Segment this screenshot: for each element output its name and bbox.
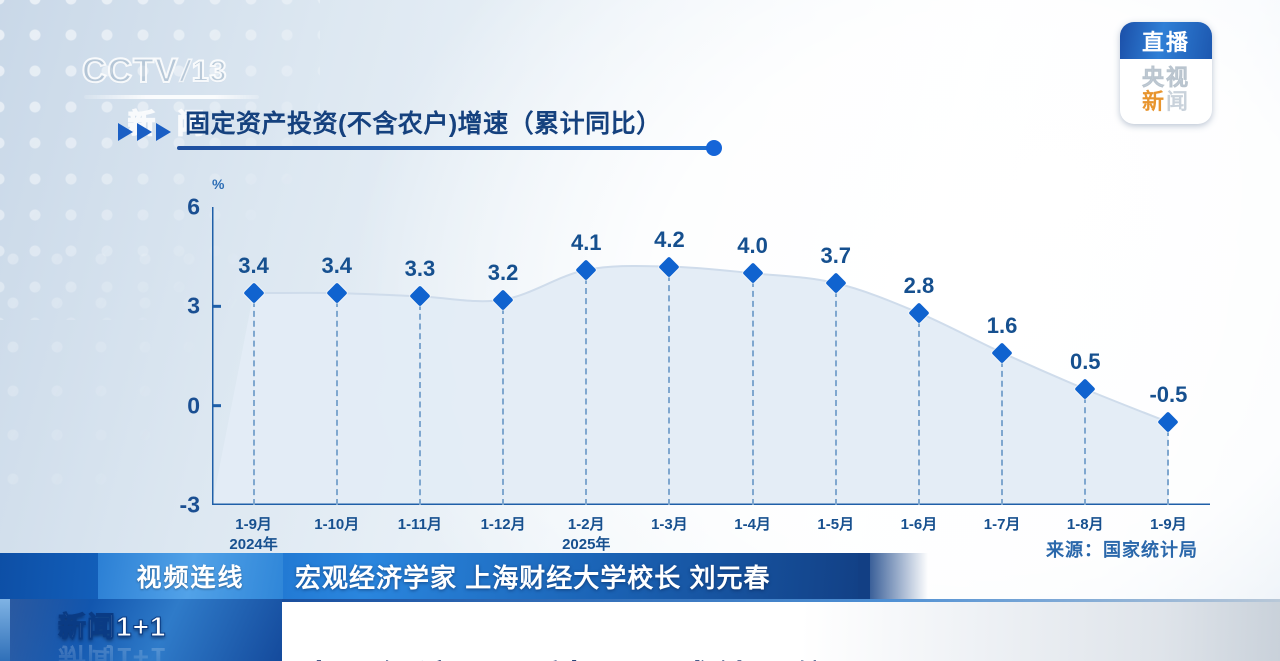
program-logo-reflection: 新闻1+1 [58, 639, 167, 661]
data-point-value-label: 4.0 [737, 233, 768, 259]
headline-row: 新闻1+1 新闻1+1 中国经济 “三季报” ，成绩与信号！ [0, 599, 1280, 661]
chart-title: 固定资产投资(不含农户)增速（累计同比） [177, 104, 717, 146]
live-badge-news-rest: 闻 [1166, 89, 1190, 114]
data-point-marker [1158, 412, 1179, 433]
data-point-dropline [253, 301, 255, 505]
data-point-dropline [1001, 361, 1003, 505]
data-point-marker [492, 289, 513, 310]
live-badge-news-text: 新闻 [1142, 90, 1190, 113]
chart-area: % 3.41-9月2024年3.41-10月3.31-11月3.21-12月4.… [150, 185, 1210, 505]
data-point-dropline [585, 278, 587, 505]
cctv-watermark-bar [84, 95, 259, 99]
data-point-value-label: 3.4 [238, 253, 269, 279]
data-point-marker [1075, 379, 1096, 400]
data-point-value-label: 3.4 [321, 253, 352, 279]
data-point-value-label: 3.2 [488, 260, 519, 286]
x-axis-tick-label: 1-4月 [734, 515, 771, 535]
y-axis-tick-label: 3 [160, 293, 200, 320]
chart-title-wrap: 固定资产投资(不含农户)增速（累计同比） [177, 104, 717, 150]
broadcast-screen: CCTV / 13 新闻 直播 央视 新闻 固定资产投资(不含农户)增速（累计同… [0, 0, 1280, 661]
data-point-marker [576, 259, 597, 280]
y-axis-tick-label: 6 [160, 194, 200, 221]
live-label: 直播 [1120, 22, 1212, 59]
x-axis-tick-label: 1-2月2025年 [562, 515, 610, 556]
x-axis-tick-label: 1-3月 [651, 515, 688, 535]
lower-third: 视频连线 宏观经济学家 上海财经大学校长 刘元春 新闻1+1 新闻1+1 中国经… [0, 553, 1280, 661]
data-point-dropline [336, 301, 338, 505]
chart-title-underline [177, 146, 717, 150]
headline-text: 中国经济 “三季报” ，成绩与信号！ [300, 645, 909, 661]
data-point-marker [825, 273, 846, 294]
data-point-value-label: 4.1 [571, 230, 602, 256]
cctv-watermark-slash: / [177, 55, 194, 89]
data-point-value-label: 3.3 [405, 256, 436, 282]
cctv-watermark-text: CCTV [82, 52, 179, 91]
x-axis-month-label: 1-3月 [651, 516, 688, 533]
arrow-triangles-icon [118, 123, 171, 141]
x-axis-month-label: 1-10月 [314, 516, 359, 533]
data-point-marker [326, 282, 347, 303]
program-logo-panel: 新闻1+1 新闻1+1 [0, 599, 282, 661]
live-badge-cctv-text: 央视 [1142, 67, 1190, 90]
x-axis-tick-label: 1-5月 [817, 515, 854, 535]
x-axis-month-label: 1-4月 [734, 516, 771, 533]
y-axis-tick-label: 0 [160, 392, 200, 419]
data-point-dropline [918, 321, 920, 505]
x-axis-month-label: 1-8月 [1067, 516, 1104, 533]
guest-name-title: 宏观经济学家 上海财经大学校长 刘元春 [295, 553, 770, 599]
x-axis-month-label: 1-2月 [568, 516, 605, 533]
y-axis-tick-label: -3 [160, 492, 200, 519]
live-badge-news-accent: 新 [1142, 89, 1166, 114]
data-point-value-label: 4.2 [654, 227, 685, 253]
data-point-dropline [668, 275, 670, 505]
guest-row: 视频连线 宏观经济学家 上海财经大学校长 刘元春 [0, 553, 1280, 599]
data-point-marker [659, 256, 680, 277]
x-axis-month-label: 1-9月 [1150, 516, 1187, 533]
x-axis-tick-label: 1-6月 [901, 515, 938, 535]
data-point-dropline [752, 281, 754, 505]
data-point-marker [742, 263, 763, 284]
connection-tag: 视频连线 [98, 553, 283, 599]
lower-third-left-edge [0, 599, 10, 661]
x-axis-tick-label: 1-11月 [398, 515, 442, 535]
x-axis-month-label: 1-11月 [398, 516, 442, 533]
guest-row-fade [858, 553, 928, 599]
x-axis-tick-label: 1-12月 [481, 515, 526, 535]
x-axis-tick-label: 1-7月 [984, 515, 1021, 535]
data-point-dropline [1167, 430, 1169, 505]
data-point-value-label: 3.7 [820, 243, 851, 269]
connection-tag-label: 视频连线 [136, 558, 244, 594]
x-axis-tick-label: 1-10月 [314, 515, 359, 535]
data-point-marker [243, 282, 264, 303]
chart-overlay: 3.41-9月2024年3.41-10月3.31-11月3.21-12月4.11… [150, 185, 1210, 505]
x-axis-month-label: 1-6月 [901, 516, 938, 533]
x-axis-tick-label: 1-8月 [1067, 515, 1104, 535]
data-point-value-label: 2.8 [904, 273, 935, 299]
chart-title-end-dot-icon [706, 140, 722, 156]
x-axis-month-label: 1-12月 [481, 516, 526, 533]
live-badge-body: 央视 新闻 [1120, 59, 1212, 124]
data-point-value-label: 1.6 [987, 313, 1018, 339]
data-point-dropline [502, 308, 504, 505]
x-axis-tick-label: 1-9月2024年 [229, 515, 277, 556]
x-axis-month-label: 1-9月 [235, 516, 272, 533]
data-point-value-label: 0.5 [1070, 349, 1101, 375]
data-point-value-label: -0.5 [1149, 382, 1187, 408]
data-point-dropline [1084, 397, 1086, 505]
x-axis-month-label: 1-5月 [817, 516, 854, 533]
cctv-watermark-channel: 13 [192, 55, 227, 89]
cctv-watermark-row: CCTV / 13 [82, 52, 272, 91]
data-point-dropline [419, 304, 421, 505]
x-axis-month-label: 1-7月 [984, 516, 1021, 533]
data-point-marker [991, 342, 1012, 363]
live-badge: 直播 央视 新闻 [1120, 22, 1212, 124]
data-point-marker [908, 302, 929, 323]
data-point-marker [409, 286, 430, 307]
chart-title-row: 固定资产投资(不含农户)增速（累计同比） [118, 104, 717, 150]
x-axis-tick-label: 1-9月 [1150, 515, 1187, 535]
data-point-dropline [835, 291, 837, 505]
